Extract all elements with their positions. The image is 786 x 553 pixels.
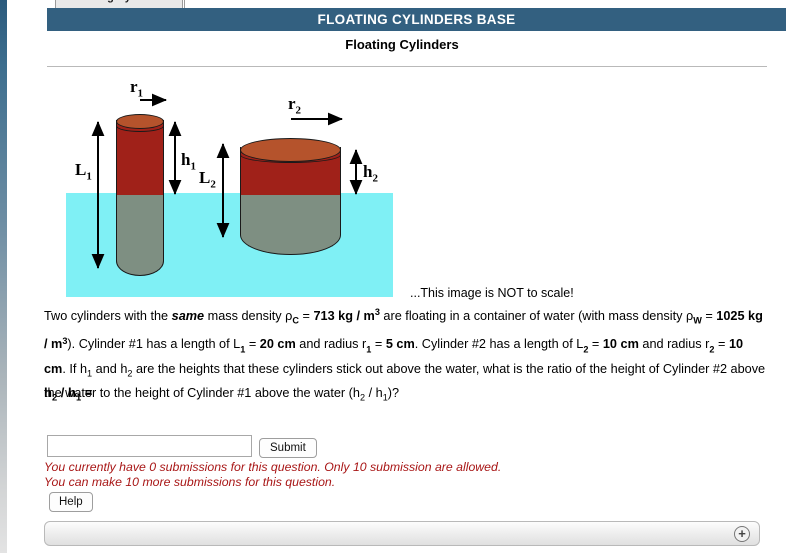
label-L1: L1 <box>75 160 92 182</box>
submit-button[interactable]: Submit <box>259 438 317 458</box>
problem-seg-2: mass density ρ <box>204 309 292 323</box>
floating-cylinders-diagram: r1 r2 L1 L2 h1 h2 <box>47 72 407 300</box>
label-r2-sub: 2 <box>296 104 302 116</box>
label-r1-text: r <box>130 77 138 96</box>
problem-seg-13: = <box>714 338 728 352</box>
label-L1-sub: 1 <box>86 170 92 182</box>
problem-seg-9: = <box>371 338 385 352</box>
tab-divider <box>184 0 185 8</box>
label-r2: r2 <box>288 94 301 116</box>
problem-seg-17: / h <box>365 386 383 400</box>
label-L2-text: L <box>199 168 210 187</box>
answer-input[interactable] <box>47 435 252 457</box>
answer-prompt: h2 / h1 = <box>44 385 92 403</box>
label-h1: h1 <box>181 150 196 172</box>
bottom-toolbar: + <box>44 521 760 546</box>
label-r1: r1 <box>130 77 143 99</box>
label-h2-sub: 2 <box>372 172 378 184</box>
rho-c-subscript: C <box>292 316 299 326</box>
answer-equals: = <box>81 385 92 400</box>
problem-seg-10: . Cylinder #2 has a length of L <box>415 338 584 352</box>
problem-seg-16: are the heights that these cylinders sti… <box>44 362 765 400</box>
label-L2: L2 <box>199 168 216 190</box>
label-h2: h2 <box>363 162 378 184</box>
problem-seg-8: and radius r <box>296 338 367 352</box>
problem-seg-3: = <box>299 309 313 323</box>
L2-value: 10 cm <box>603 338 639 352</box>
submission-count-message: You currently have 0 submissions for thi… <box>44 460 501 474</box>
answer-slash: / h <box>57 385 76 400</box>
label-L1-text: L <box>75 160 86 179</box>
rho-w-subscript: W <box>693 316 702 326</box>
page-banner: FLOATING CYLINDERS BASE <box>47 8 786 31</box>
problem-seg-15: and h <box>92 362 127 376</box>
problem-emphasis-same: same <box>172 309 204 323</box>
problem-seg-11: = <box>588 338 602 352</box>
problem-seg-6: ). Cylinder #1 has a length of L <box>67 338 240 352</box>
browser-tab-bar: Floating Cylinders <box>8 0 786 8</box>
problem-seg-4: are floating in a container of water (wi… <box>380 309 693 323</box>
answer-h2: h <box>44 385 52 400</box>
problem-statement: Two cylinders with the same mass density… <box>44 303 768 408</box>
plus-circle-icon[interactable]: + <box>734 526 750 542</box>
density-cylinder-value: 713 kg / m <box>313 309 374 323</box>
remaining-submissions-message: You can make 10 more submissions for thi… <box>44 475 335 489</box>
L1-value: 20 cm <box>260 338 296 352</box>
window-left-gradient-strip <box>0 0 7 553</box>
help-button[interactable]: Help <box>49 492 93 512</box>
not-to-scale-caption: ...This image is NOT to scale! <box>410 286 574 300</box>
banner-title: FLOATING CYLINDERS BASE <box>318 12 516 27</box>
label-r2-text: r <box>288 94 296 113</box>
problem-seg-18: )? <box>388 386 399 400</box>
window-edge-divider <box>7 0 8 553</box>
tab-label: Floating Cylinders <box>71 0 167 3</box>
problem-seg-14: . If h <box>62 362 87 376</box>
problem-seg-12: and radius r <box>639 338 710 352</box>
label-L2-sub: 2 <box>210 178 216 190</box>
tab-floating-cylinders[interactable]: Floating Cylinders <box>55 0 183 8</box>
problem-seg-5: = <box>702 309 716 323</box>
label-h1-sub: 1 <box>190 160 196 172</box>
r1-value: 5 cm <box>386 338 415 352</box>
label-r1-sub: 1 <box>138 87 144 99</box>
dimension-arrows <box>47 72 407 300</box>
problem-seg-1: Two cylinders with the <box>44 309 172 323</box>
header-divider <box>47 66 767 67</box>
page-title: Floating Cylinders <box>47 37 757 52</box>
problem-seg-7: = <box>245 338 259 352</box>
